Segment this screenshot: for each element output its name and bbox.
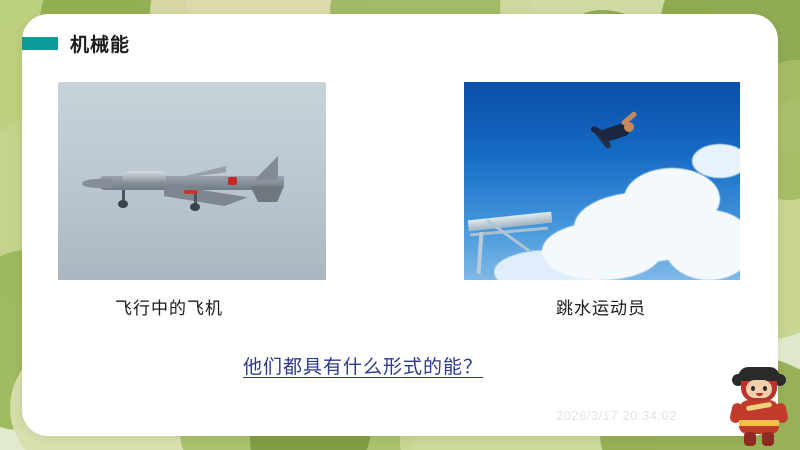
cloud-shape (692, 144, 740, 178)
diver-head (624, 122, 634, 132)
diving-platform (464, 210, 554, 276)
title-marker-icon (22, 37, 58, 50)
mascot-hair (738, 367, 780, 381)
mascot-leg (744, 432, 756, 446)
jet-marking (184, 190, 198, 194)
question-text: 他们都具有什么形式的能？ (243, 352, 483, 379)
mascot-eye (751, 386, 755, 391)
fighter-jet-photo (58, 82, 326, 280)
caption-diver: 跳水运动员 (556, 294, 646, 319)
diver-photo (464, 82, 740, 280)
jet-marking (228, 177, 237, 185)
slide-title: 机械能 (22, 30, 130, 57)
diver-figure (590, 112, 642, 164)
caption-fighter-jet: 飞行中的飞机 (115, 294, 223, 319)
jet-landing-wheel (190, 203, 200, 211)
mascot-leg (762, 432, 774, 446)
mascot-character (732, 370, 786, 446)
jet-landing-wheel (118, 200, 128, 208)
mascot-eye (763, 386, 767, 391)
jet-nose (82, 179, 112, 188)
jet-horizontal-stabilizer (250, 186, 284, 202)
timestamp-watermark: 2026/3/17 20:34:02 (556, 408, 677, 423)
mascot-belt (739, 420, 779, 426)
slide: 机械能 (0, 0, 800, 450)
slide-title-text: 机械能 (70, 30, 130, 57)
platform-post (477, 232, 484, 274)
jet-illustration (98, 160, 288, 202)
jet-canopy (122, 171, 166, 182)
